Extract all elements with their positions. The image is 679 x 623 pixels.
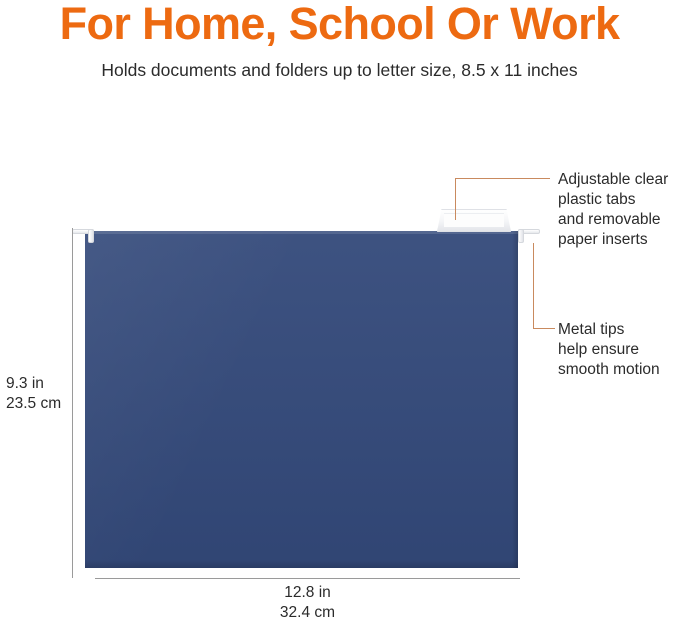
paper-insert	[444, 213, 504, 227]
product-infographic: For Home, School Or Work Holds documents…	[0, 0, 679, 623]
leader-line-tab-vertical	[455, 178, 456, 220]
dimension-label-width: 12.8 in 32.4 cm	[0, 583, 615, 623]
callout-line: paper inserts	[558, 230, 668, 250]
leader-line-tip-vertical	[533, 243, 534, 329]
callout-metal-tips: Metal tips help ensure smooth motion	[558, 320, 660, 380]
dimension-height-imperial: 9.3 in	[6, 374, 61, 394]
metal-tip-right-icon	[514, 227, 540, 242]
folder-body	[85, 231, 518, 568]
callout-adjustable-tabs: Adjustable clear plastic tabs and remova…	[558, 170, 668, 250]
dimension-label-height: 9.3 in 23.5 cm	[6, 374, 61, 414]
page-subtitle: Holds documents and folders up to letter…	[0, 58, 679, 82]
callout-line: Adjustable clear	[558, 170, 668, 190]
metal-tip-right-hook	[518, 229, 524, 243]
metal-tip-left-hook	[88, 229, 94, 243]
callout-line: smooth motion	[558, 360, 660, 380]
dimension-width-imperial: 12.8 in	[0, 583, 615, 603]
callout-line: and removable	[558, 210, 668, 230]
dimension-height-metric: 23.5 cm	[6, 394, 61, 414]
callout-line: help ensure	[558, 340, 660, 360]
folder-right-edge	[512, 231, 518, 568]
callout-line: Metal tips	[558, 320, 660, 340]
page-title: For Home, School Or Work	[0, 0, 679, 50]
dimension-width-metric: 32.4 cm	[0, 603, 615, 623]
dimension-line-width	[95, 578, 520, 579]
folder-bottom-edge	[85, 560, 518, 568]
plastic-tab-icon	[437, 209, 511, 232]
metal-tip-left-icon	[72, 227, 98, 242]
leader-line-tab-horizontal	[455, 178, 550, 179]
dimension-line-height	[72, 228, 73, 578]
callout-line: plastic tabs	[558, 190, 668, 210]
leader-line-tip-horizontal	[533, 328, 555, 329]
